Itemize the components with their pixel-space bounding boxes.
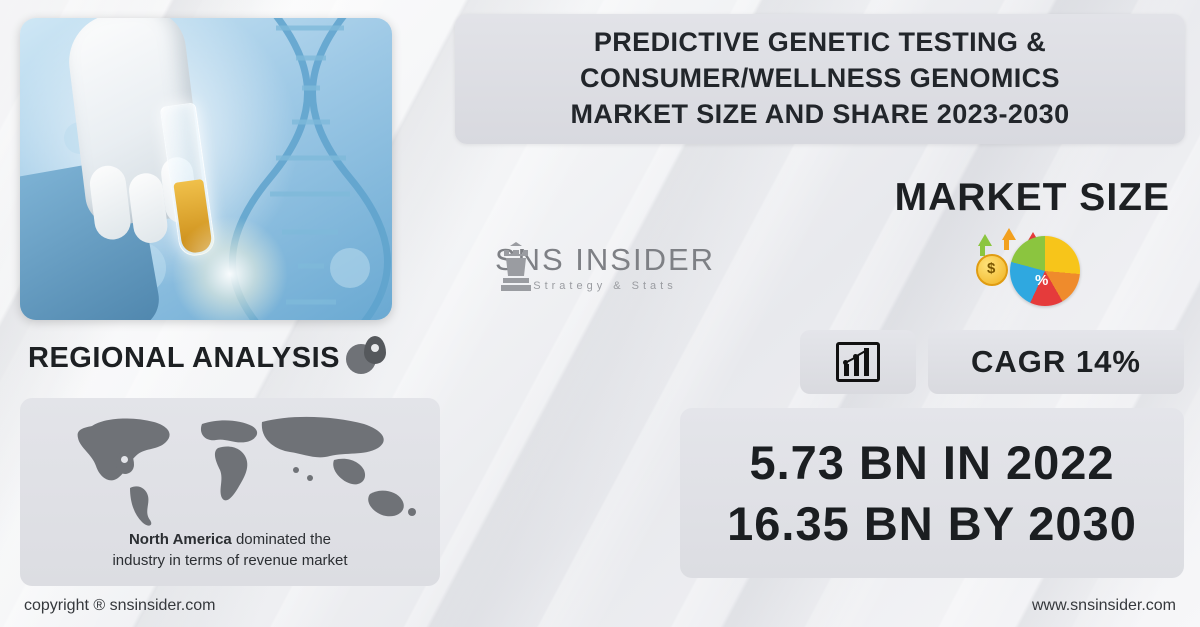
- title-line-3: MARKET SIZE AND SHARE 2023-2030: [570, 99, 1069, 129]
- map-caption-rest: dominated the: [232, 531, 331, 548]
- growth-chart-card: [800, 330, 916, 394]
- world-map-card: North America dominated the industry in …: [20, 398, 440, 586]
- sns-insider-logo: SNS INSIDER Strategy & Stats: [470, 242, 740, 342]
- cagr-value: CAGR 14%: [928, 330, 1184, 394]
- market-share-pie-icon: $ %: [972, 228, 1104, 314]
- regional-analysis-label: REGIONAL ANALYSIS: [28, 342, 340, 375]
- market-value-2022: 5.73 BN IN 2022: [749, 435, 1114, 490]
- regional-analysis-heading: REGIONAL ANALYSIS: [28, 336, 390, 380]
- chess-rook-icon: [494, 242, 538, 298]
- world-map-graphic: [34, 408, 426, 528]
- money-icon: $: [976, 254, 1008, 286]
- light-flare: [170, 214, 290, 320]
- title-line-1: PREDICTIVE GENETIC TESTING &: [594, 27, 1046, 57]
- market-value-2030: 16.35 BN BY 2030: [727, 496, 1137, 551]
- title-banner: PREDICTIVE GENETIC TESTING & CONSUMER/WE…: [455, 14, 1185, 144]
- globe-pin-icon: [346, 336, 390, 380]
- market-value-card: 5.73 BN IN 2022 16.35 BN BY 2030: [680, 408, 1184, 578]
- north-america-map-pin: [116, 450, 134, 474]
- market-size-heading: MARKET SIZE: [895, 176, 1170, 220]
- pie-chart-icon: [1010, 236, 1080, 306]
- coin-label: $: [987, 260, 995, 277]
- title-line-2: CONSUMER/WELLNESS GENOMICS: [580, 63, 1060, 93]
- copyright-text: copyright ® snsinsider.com: [24, 597, 215, 615]
- lab-photo: [20, 18, 392, 320]
- percent-label: %: [1035, 272, 1048, 289]
- map-caption-line2: industry in terms of revenue market: [112, 552, 347, 569]
- map-caption-region: North America: [129, 531, 232, 548]
- map-caption: North America dominated the industry in …: [20, 529, 440, 573]
- website-url[interactable]: www.snsinsider.com: [1032, 597, 1176, 615]
- bar-chart-icon: [836, 342, 880, 382]
- page-title: PREDICTIVE GENETIC TESTING & CONSUMER/WE…: [570, 25, 1069, 133]
